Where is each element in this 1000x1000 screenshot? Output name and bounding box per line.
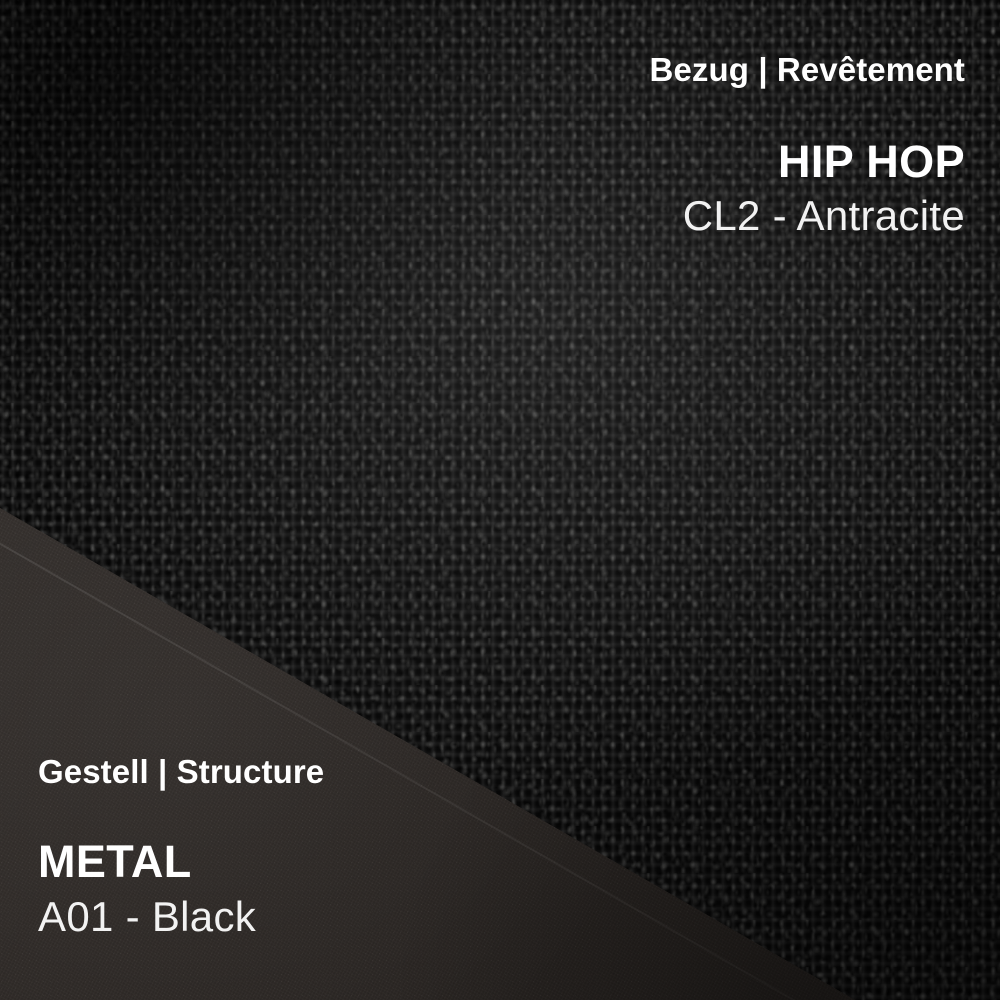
frame-color-code: A01 - Black [38, 892, 324, 942]
frame-material-name: METAL [38, 836, 324, 888]
frame-label-block: Gestell | Structure METAL A01 - Black [38, 752, 324, 942]
upholstery-label-block: Bezug | Revêtement HIP HOP CL2 - Antraci… [650, 50, 965, 242]
frame-category-label: Gestell | Structure [38, 752, 324, 792]
upholstery-material-name: HIP HOP [650, 136, 965, 188]
material-swatch-card: Bezug | Revêtement HIP HOP CL2 - Antraci… [0, 0, 1000, 1000]
upholstery-category-label: Bezug | Revêtement [650, 50, 965, 90]
upholstery-color-code: CL2 - Antracite [650, 191, 965, 241]
